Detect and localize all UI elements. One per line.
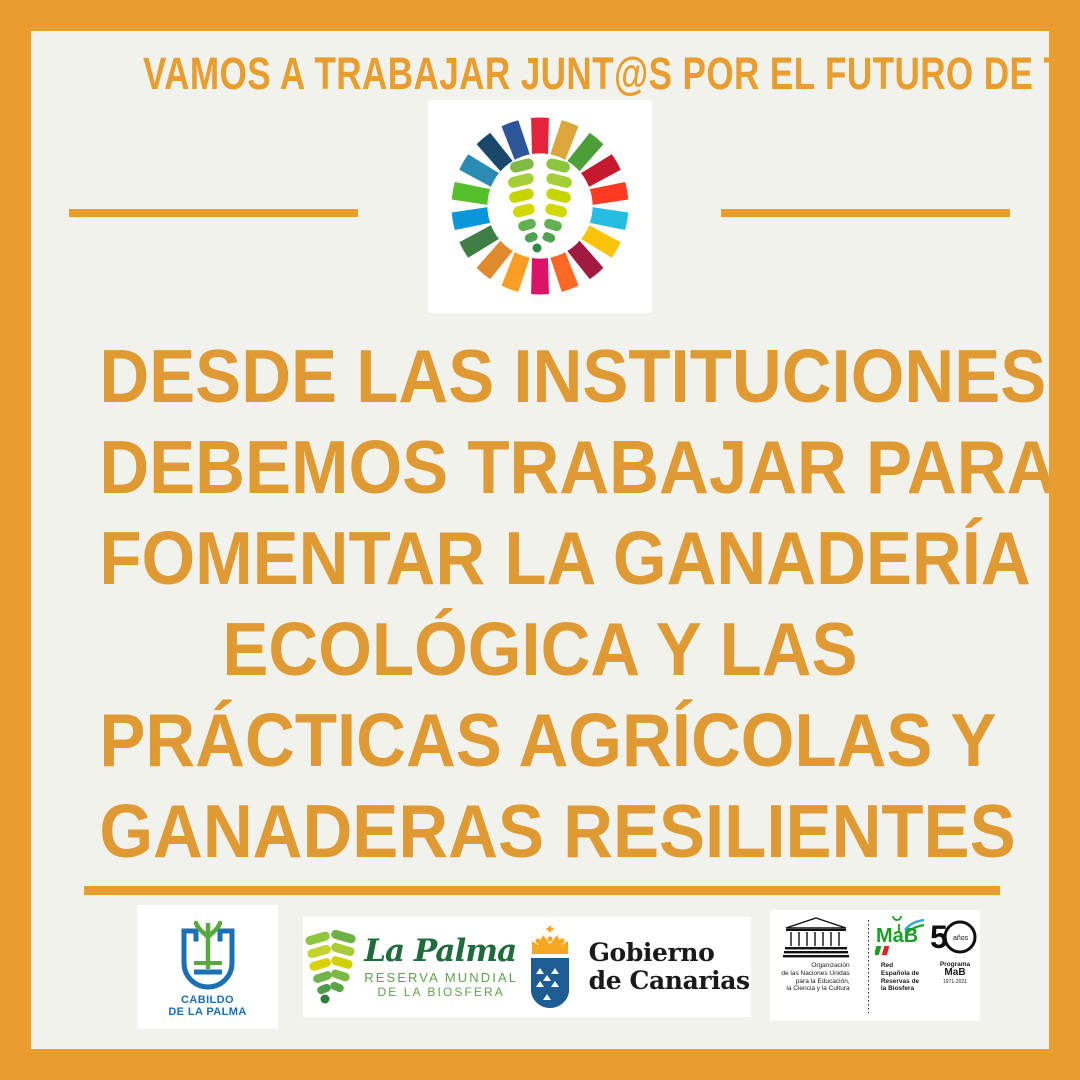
logo-gobierno-de-canarias: Gobierno de Canarias bbox=[521, 924, 750, 1010]
statement-line-4: ECOLÓGICA Y LAS bbox=[99, 604, 980, 695]
mab-caption-line4: la Biosfera bbox=[881, 985, 914, 992]
canarias-crown-shield-icon bbox=[521, 924, 581, 1010]
logo-unesco: Organización de las Naciones Unidas para… bbox=[768, 916, 864, 993]
gobierno-label-line2: de Canarias bbox=[589, 967, 750, 995]
la-palma-leaf-icon bbox=[304, 928, 358, 1006]
gobierno-label-line1: Gobierno bbox=[589, 939, 750, 967]
unesco-caption-line4: la Ciencia y la Cultura bbox=[786, 985, 849, 992]
logo-panel-middle: La Palma RESERVA MUNDIAL DE LA BIOSFERA bbox=[303, 917, 751, 1017]
decorative-rule-left bbox=[69, 209, 358, 217]
programme-line2: MaB bbox=[944, 967, 965, 978]
mab-caption-line1: Red bbox=[881, 962, 893, 969]
unesco-temple-icon bbox=[782, 916, 850, 958]
unesco-caption-line1: Organización bbox=[811, 962, 849, 969]
programme-years: 1971-2021 bbox=[943, 979, 967, 985]
unesco-caption-line2: de las Naciones Unidas bbox=[781, 970, 849, 977]
statement-underline-bar bbox=[84, 886, 1000, 895]
statement-line-6: GANADERAS RESILIENTES bbox=[99, 786, 980, 877]
cabildo-shield-icon bbox=[172, 917, 244, 991]
fifty-years-icon: 5 años bbox=[930, 916, 980, 958]
cabildo-label-line1: CABILDO bbox=[181, 994, 234, 1006]
logo-la-palma-biosfera: La Palma RESERVA MUNDIAL DE LA BIOSFERA bbox=[304, 928, 518, 1006]
mab-icon: MaB bbox=[875, 916, 925, 958]
programme-caption: Programa MaB 1971-2021 bbox=[940, 961, 970, 986]
page-kicker-title: VAMOS A TRABAJAR JUNT@S POR EL FUTURO DE… bbox=[143, 45, 937, 103]
la-palma-subtitle-1: RESERVA MUNDIAL bbox=[364, 971, 518, 984]
logo-panel-cabildo: CABILDO DE LA PALMA bbox=[137, 905, 278, 1029]
mab-caption-line2: Española de bbox=[881, 970, 919, 977]
la-palma-subtitle-2: DE LA BIOSFERA bbox=[364, 986, 518, 998]
logo-panel-unesco-mab: Organización de las Naciones Unidas para… bbox=[770, 910, 980, 1021]
cabildo-label-line2: DE LA PALMA bbox=[168, 1006, 246, 1018]
mab-caption: Red Española de Reservas de la Biosfera bbox=[881, 962, 919, 993]
poster-inner-canvas: VAMOS A TRABAJAR JUNT@S POR EL FUTURO DE… bbox=[31, 31, 1049, 1049]
poster-root: VAMOS A TRABAJAR JUNT@S POR EL FUTURO DE… bbox=[0, 0, 1080, 1080]
statement-line-5: PRÁCTICAS AGRÍCOLAS Y bbox=[99, 695, 980, 786]
logo-divider-1 bbox=[868, 920, 869, 1013]
main-statement: DESDE LAS INSTITUCIONES DEBEMOS TRABAJAR… bbox=[61, 331, 1019, 877]
statement-line-3: FOMENTAR LA GANADERÍA bbox=[99, 513, 980, 604]
sdg-wheel-icon bbox=[428, 100, 652, 313]
footer-logo-strip: CABILDO DE LA PALMA bbox=[31, 905, 1049, 1049]
unesco-caption: Organización de las Naciones Unidas para… bbox=[781, 962, 849, 993]
anniversary-word-text: años bbox=[953, 935, 969, 942]
logo-mab-50-aniversario: 5 años Programa MaB 1971-2021 bbox=[928, 916, 983, 986]
sdg-wheel-logo bbox=[428, 100, 652, 313]
logo-mab-red-espanola: MaB Red Española de bbox=[873, 916, 928, 993]
statement-line-1: DESDE LAS INSTITUCIONES bbox=[99, 331, 980, 422]
unesco-caption-line3: para la Educación, bbox=[796, 978, 850, 985]
statement-line-2: DEBEMOS TRABAJAR PARA bbox=[99, 422, 980, 513]
la-palma-title: La Palma bbox=[364, 936, 518, 967]
cabildo-label: CABILDO DE LA PALMA bbox=[168, 994, 246, 1018]
decorative-rule-right bbox=[721, 209, 1010, 217]
mab-caption-line3: Reservas de bbox=[881, 978, 919, 985]
